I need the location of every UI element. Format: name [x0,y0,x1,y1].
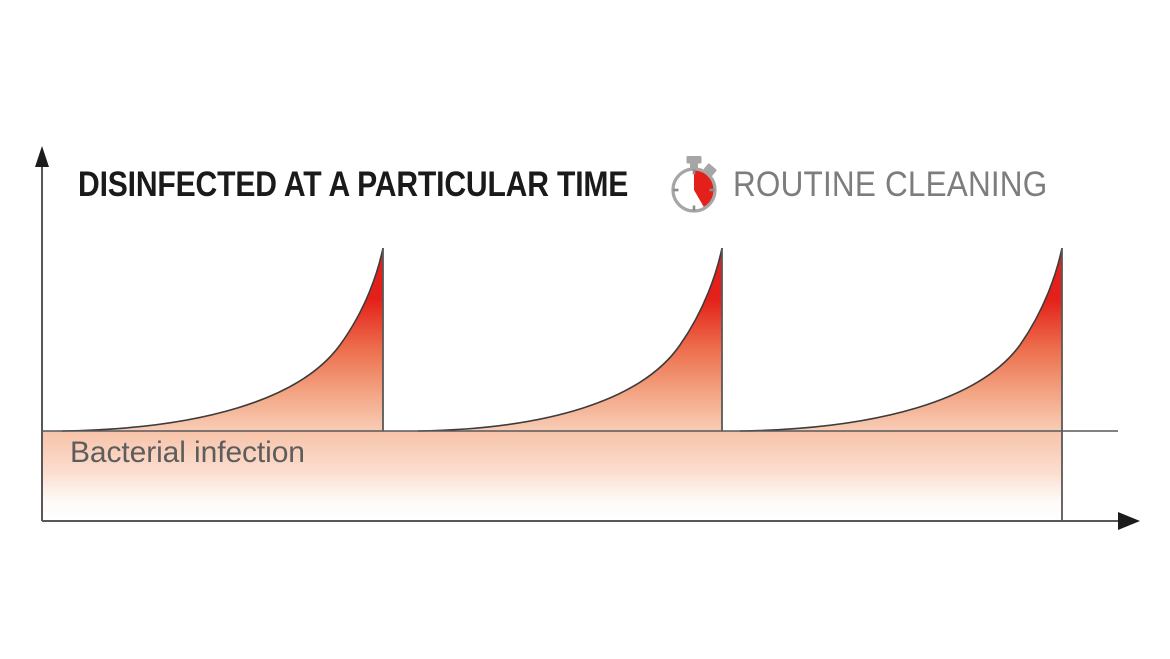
bacterial-infection-label: Bacterial infection [70,438,305,468]
cycle-2 [418,248,722,431]
legend-subtitle: ROUTINE CLEANING [733,167,1047,202]
x-axis-arrow-icon [1118,512,1140,530]
legend-title: DISINFECTED AT A PARTICULAR TIME [78,167,628,202]
sawtooth-chart [0,0,1170,659]
cycle-1-area [62,248,383,431]
stopwatch-icon [663,153,725,215]
legend: DISINFECTED AT A PARTICULAR TIME ROUTINE… [78,158,1082,210]
cycle-3-area [740,248,1062,431]
infographic-canvas: DISINFECTED AT A PARTICULAR TIME ROUTINE… [0,0,1170,659]
cycle-1 [62,248,383,431]
y-axis-arrow-icon [35,146,49,167]
cycle-2-area [418,248,722,431]
